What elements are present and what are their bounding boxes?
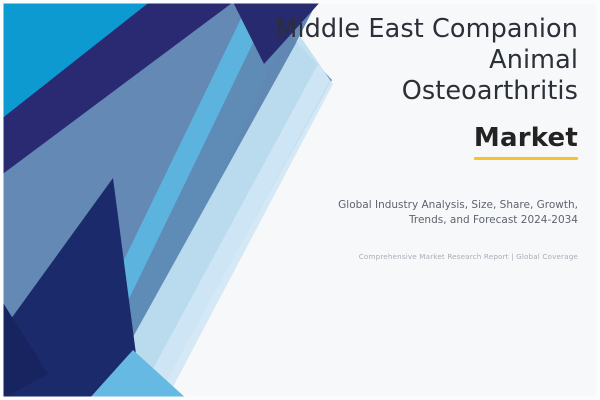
market-accent-underline: [474, 157, 578, 160]
report-cover: Middle East Companion Animal Osteoarthri…: [0, 0, 600, 400]
sky-lower-band-shape: [88, 350, 188, 400]
report-caption: Comprehensive Market Research Report | G…: [188, 251, 578, 262]
market-heading: Market: [474, 123, 578, 160]
cyan-top-left-shape: [0, 0, 152, 122]
market-heading-wrapper: Market: [188, 123, 578, 160]
report-subtitle: Global Industry Analysis, Size, Share, G…: [188, 198, 578, 228]
market-heading-label: Market: [474, 123, 578, 153]
navy-lower-spike-shape: [0, 178, 142, 400]
navy-corner-shape: [0, 298, 48, 400]
page-title: Middle East Companion Animal Osteoarthri…: [188, 14, 578, 107]
cover-text-block: Middle East Companion Animal Osteoarthri…: [188, 14, 578, 262]
